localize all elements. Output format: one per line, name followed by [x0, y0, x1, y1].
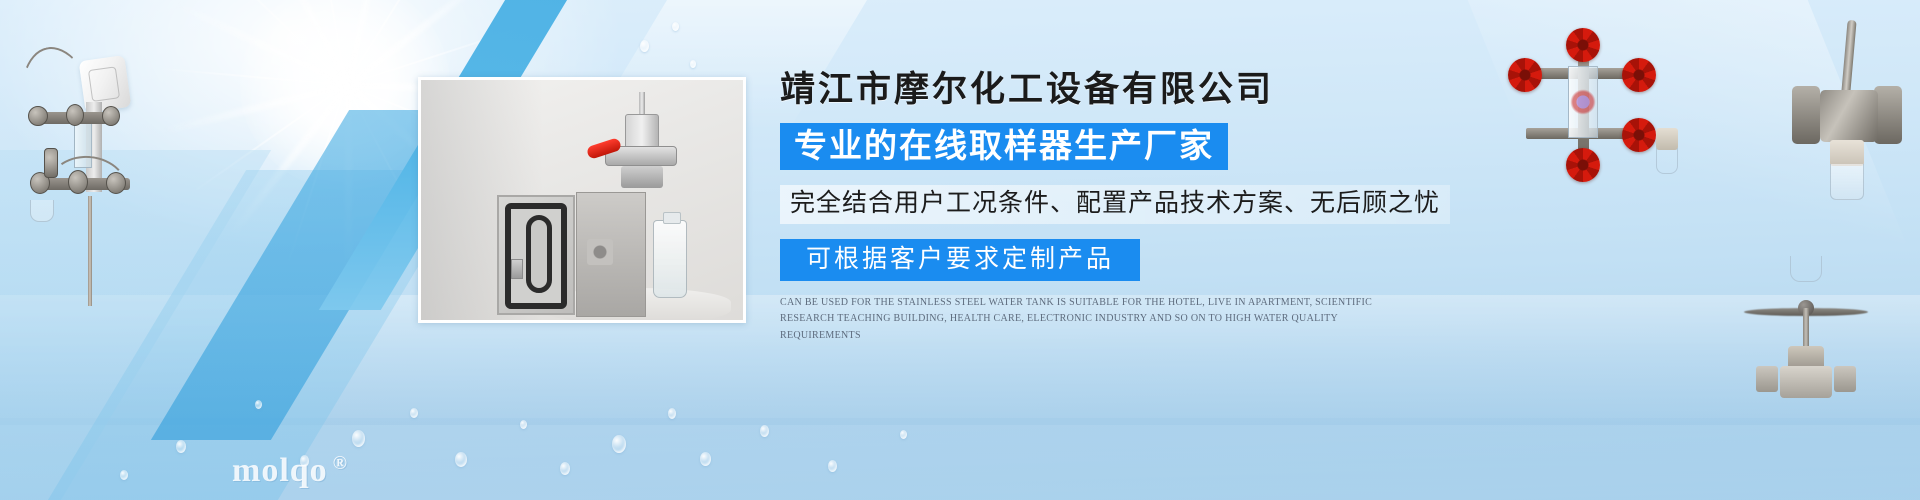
handwheel-left	[1508, 58, 1542, 92]
promo-banner: 靖江市摩尔化工设备有限公司 专业的在线取样器生产厂家 完全结合用户工况条件、配置…	[0, 0, 1920, 500]
watermark-text: molqo	[232, 452, 328, 489]
handwheel-top	[1566, 28, 1600, 62]
certification-seal-icon	[1568, 87, 1598, 117]
sampling-valve-head	[599, 94, 683, 190]
water-drop	[640, 40, 649, 52]
handwheel-right	[1622, 58, 1656, 92]
brand-watermark: molqo®	[232, 452, 348, 490]
right-cross-valve-illustration	[1496, 32, 1676, 177]
valve-hub	[28, 106, 48, 126]
secondary-slogan: 完全结合用户工况条件、配置产品技术方案、无后顾之忧	[780, 185, 1450, 224]
valve-body	[1820, 90, 1878, 142]
flange-right	[1874, 86, 1902, 144]
collection-bottle	[653, 220, 687, 298]
bottom-right-valve-illustration	[1744, 248, 1868, 398]
water-drop	[560, 462, 570, 475]
registered-mark: ®	[333, 453, 348, 474]
headline-text-block: 靖江市摩尔化工设备有限公司 专业的在线取样器生产厂家 完全结合用户工况条件、配置…	[780, 72, 1420, 344]
valve-cap	[621, 166, 663, 188]
cabinet-port-plate	[587, 239, 613, 265]
water-drop	[255, 400, 262, 409]
water-drop	[672, 22, 679, 31]
valve-wing-right	[1834, 366, 1856, 392]
valve-hub	[66, 104, 84, 126]
water-drop	[828, 460, 837, 472]
company-name: 靖江市摩尔化工设备有限公司	[780, 72, 1420, 107]
right-flange-valve-illustration	[1778, 28, 1920, 208]
valve-hub	[102, 106, 120, 126]
water-drop	[455, 452, 467, 467]
left-product-illustration	[8, 30, 158, 320]
door-latch	[511, 259, 523, 279]
water-drop	[410, 408, 418, 418]
water-drop	[760, 425, 769, 437]
center-product-photo	[418, 77, 746, 323]
valve-wing-left	[1756, 366, 1778, 392]
valve-cup	[1830, 140, 1864, 166]
valve-body	[1780, 366, 1832, 398]
water-drop	[176, 440, 186, 453]
water-drop	[690, 60, 696, 68]
water-drop	[668, 408, 676, 419]
sample-glass	[1790, 256, 1822, 282]
customization-badge: 可根据客户要求定制产品	[780, 239, 1140, 281]
water-drop	[352, 430, 365, 447]
water-drop	[120, 470, 128, 480]
primary-slogan-badge: 专业的在线取样器生产厂家	[780, 123, 1228, 170]
flange-left	[1792, 86, 1820, 144]
insertion-probe	[88, 196, 92, 306]
english-caption: CAN BE USED FOR THE STAINLESS STEEL WATE…	[780, 295, 1405, 345]
sample-bottle	[30, 200, 54, 222]
handwheel-bottom	[1566, 148, 1600, 182]
handwheel-lower-right	[1622, 118, 1656, 152]
cabinet-door	[497, 195, 575, 315]
cabinet-body	[576, 192, 646, 317]
sample-bottle	[1656, 148, 1678, 174]
water-drop	[900, 430, 907, 439]
water-drop	[700, 452, 711, 466]
outlet-nozzle	[1656, 128, 1678, 150]
water-drop	[612, 435, 626, 453]
sample-jar	[1830, 164, 1864, 200]
door-viewing-window	[526, 215, 552, 293]
water-drop	[520, 420, 527, 429]
